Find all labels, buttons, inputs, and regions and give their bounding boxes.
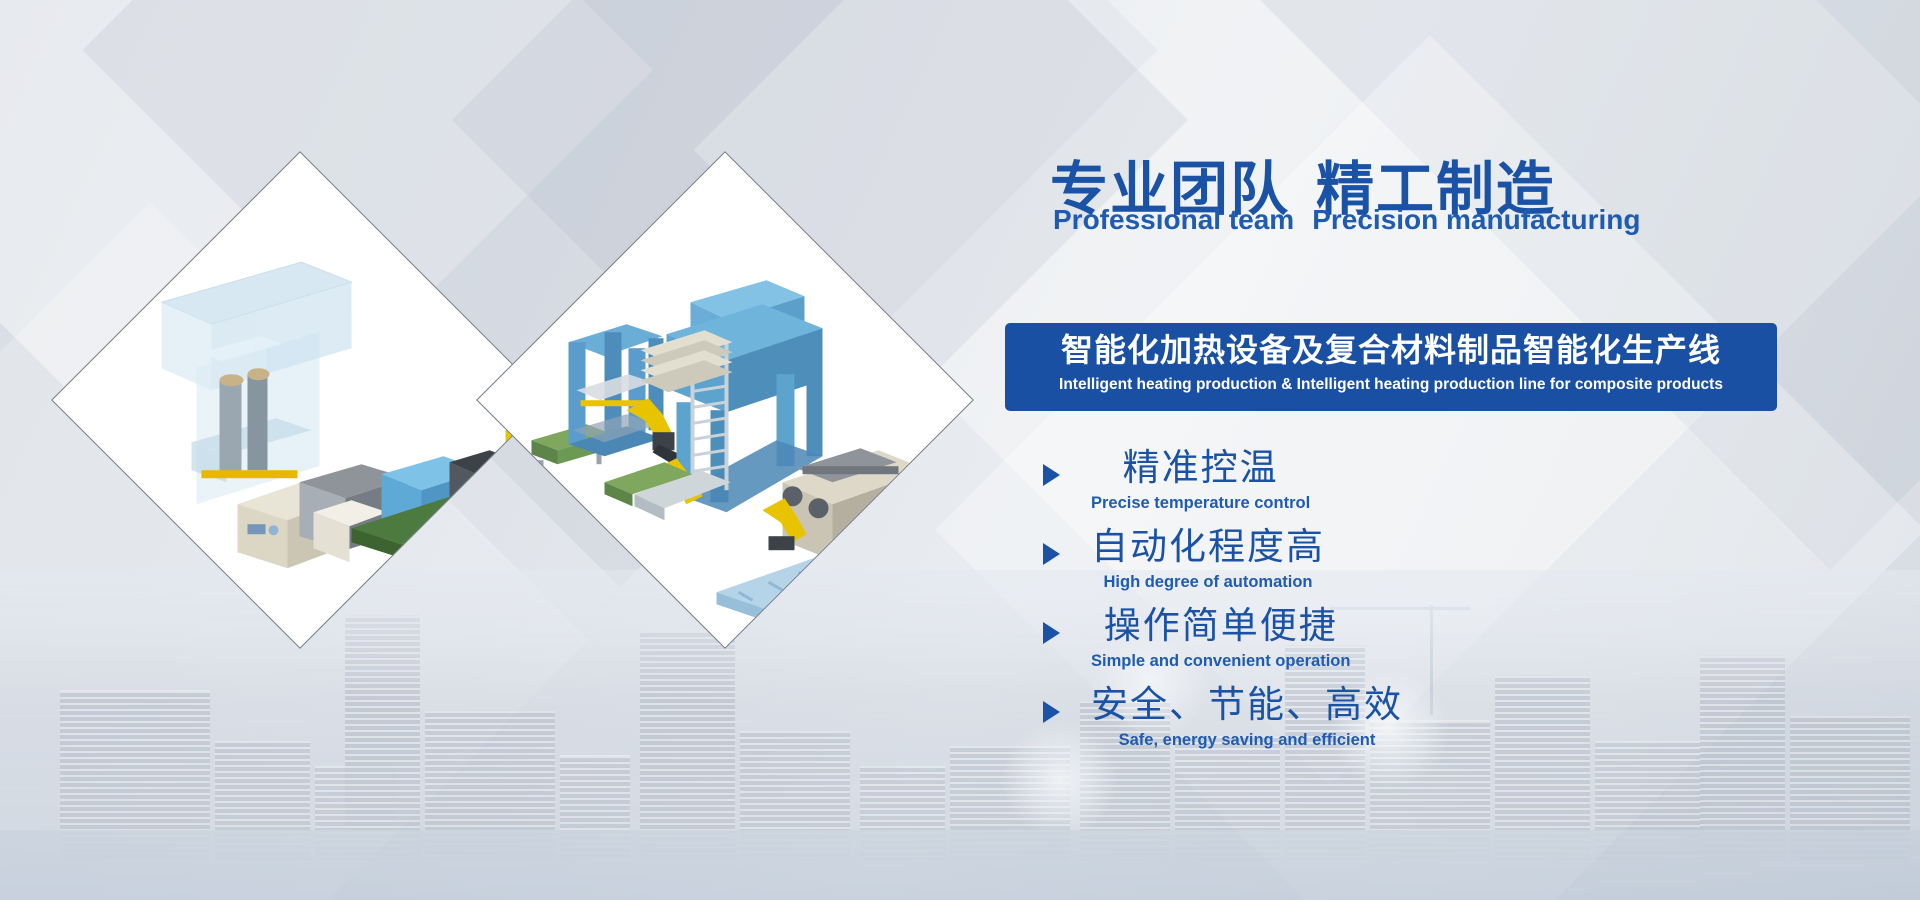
feature-text: 操作简单便捷 Simple and convenient operation (1091, 602, 1350, 672)
feature-title-en: Safe, energy saving and efficient (1091, 729, 1403, 751)
triangle-bullet-icon (1043, 543, 1060, 565)
feature-title-en: Precise temperature control (1091, 492, 1310, 514)
highlight-bar-title-en: Intelligent heating production & Intelli… (1005, 372, 1777, 398)
feature-item: 安全、节能、高效 Safe, energy saving and efficie… (1023, 685, 1643, 764)
feature-title-cn: 精准控温 (1091, 444, 1310, 492)
promo-banner: 专业团队精工制造 Professional teamPrecision manu… (0, 0, 1920, 900)
headline-en-right: Precision manufacturing (1312, 204, 1640, 235)
feature-item: 精准控温 Precise temperature control (1023, 448, 1643, 527)
headline-en: Professional teamPrecision manufacturing (1053, 204, 1641, 236)
feature-title-en: Simple and convenient operation (1091, 650, 1350, 672)
feature-text: 自动化程度高 High degree of automation (1091, 523, 1325, 593)
highlight-bar-title-cn: 智能化加热设备及复合材料制品智能化生产线 (1005, 328, 1777, 372)
triangle-bullet-icon (1043, 701, 1060, 723)
feature-item: 操作简单便捷 Simple and convenient operation (1023, 606, 1643, 685)
feature-item: 自动化程度高 High degree of automation (1023, 527, 1643, 606)
feature-text: 精准控温 Precise temperature control (1091, 444, 1310, 514)
feature-title-en: High degree of automation (1091, 571, 1325, 593)
feature-title-cn: 自动化程度高 (1091, 523, 1325, 571)
feature-text: 安全、节能、高效 Safe, energy saving and efficie… (1091, 681, 1403, 751)
triangle-bullet-icon (1043, 622, 1060, 644)
banner-content: 专业团队精工制造 Professional teamPrecision manu… (1005, 0, 1795, 900)
feature-title-cn: 安全、节能、高效 (1091, 681, 1403, 729)
highlight-bar: 智能化加热设备及复合材料制品智能化生产线 Intelligent heating… (1005, 323, 1777, 411)
triangle-bullet-icon (1043, 464, 1060, 486)
feature-list: 精准控温 Precise temperature control 自动化程度高 … (1023, 448, 1643, 764)
feature-title-cn: 操作简单便捷 (1091, 602, 1350, 650)
headline-en-left: Professional team (1053, 204, 1294, 235)
